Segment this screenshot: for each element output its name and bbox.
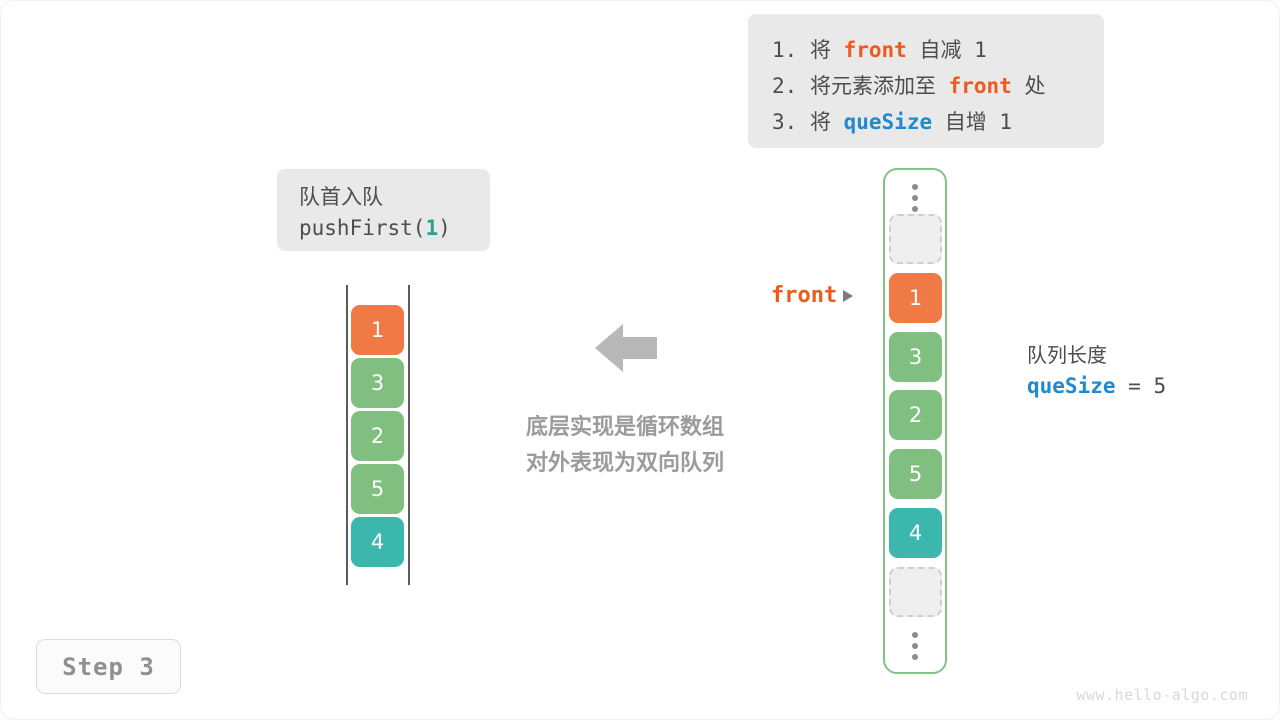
circular-array-top-ellipsis-icon bbox=[912, 184, 918, 212]
quesize-equals: = bbox=[1116, 374, 1154, 398]
deque-cell-3: 5 bbox=[351, 464, 404, 514]
circular-cell-0 bbox=[889, 214, 942, 264]
step-item-2-pre: 将元素添加至 bbox=[810, 74, 949, 98]
operation-call-arg: 1 bbox=[425, 216, 438, 240]
step-item-1: 1. 将 front 自减 1 bbox=[772, 32, 1080, 68]
front-pointer-arrow-icon bbox=[843, 290, 853, 302]
circular-cell-1: 1 bbox=[889, 273, 942, 323]
circular-cell-3-value: 2 bbox=[909, 403, 922, 427]
diagram-canvas: 1. 将 front 自减 1 2. 将元素添加至 front 处 3. 将 q… bbox=[0, 0, 1280, 720]
operation-steps-panel: 1. 将 front 自减 1 2. 将元素添加至 front 处 3. 将 q… bbox=[748, 14, 1104, 148]
center-caption: 底层实现是循环数组 对外表现为双向队列 bbox=[470, 410, 780, 482]
deque-linear-view: 1 3 2 5 4 bbox=[340, 280, 416, 590]
circular-cell-4: 5 bbox=[889, 449, 942, 499]
circular-array-bottom-ellipsis-icon bbox=[912, 632, 918, 660]
step-item-3-index: 3. bbox=[772, 110, 797, 134]
step-item-3-pre: 将 bbox=[810, 110, 844, 134]
step-item-2-post: 处 bbox=[1012, 74, 1046, 98]
deque-cell-1: 3 bbox=[351, 358, 404, 408]
step-item-2: 2. 将元素添加至 front 处 bbox=[772, 68, 1080, 104]
quesize-readout: 队列长度 queSize = 5 bbox=[1027, 340, 1257, 402]
step-item-1-pre: 将 bbox=[810, 38, 844, 62]
deque-cell-2-value: 2 bbox=[371, 424, 384, 448]
deque-cell-0-value: 1 bbox=[371, 318, 384, 342]
center-caption-line-2: 对外表现为双向队列 bbox=[470, 446, 780, 482]
circular-cell-6 bbox=[889, 567, 942, 617]
deque-cell-0: 1 bbox=[351, 305, 404, 355]
step-item-1-index: 1. bbox=[772, 38, 797, 62]
operation-label-panel: 队首入队 pushFirst(1) bbox=[277, 169, 490, 251]
circular-cell-2: 3 bbox=[889, 332, 942, 382]
deque-cell-4: 4 bbox=[351, 517, 404, 567]
operation-title: 队首入队 bbox=[299, 182, 468, 212]
step-badge: Step 3 bbox=[36, 639, 181, 694]
step-badge-label: Step 3 bbox=[62, 653, 155, 681]
circular-cell-4-value: 5 bbox=[909, 462, 922, 486]
transform-arrow-icon bbox=[595, 322, 657, 374]
quesize-var-name: queSize bbox=[1027, 374, 1116, 398]
center-caption-line-1: 底层实现是循环数组 bbox=[470, 410, 780, 446]
circular-cell-5: 4 bbox=[889, 508, 942, 558]
operation-call-suffix: ) bbox=[438, 216, 451, 240]
circular-cell-3: 2 bbox=[889, 390, 942, 440]
operation-call: pushFirst(1) bbox=[299, 212, 468, 244]
circular-cell-2-value: 3 bbox=[909, 345, 922, 369]
circular-cell-1-value: 1 bbox=[909, 286, 922, 310]
step-item-1-code: front bbox=[844, 38, 907, 62]
step-item-2-index: 2. bbox=[772, 74, 797, 98]
step-item-1-post: 自减 1 bbox=[907, 38, 987, 62]
quesize-value: 5 bbox=[1153, 374, 1166, 398]
deque-cell-1-value: 3 bbox=[371, 371, 384, 395]
step-item-3: 3. 将 queSize 自增 1 bbox=[772, 104, 1080, 140]
front-pointer: front bbox=[771, 283, 853, 308]
operation-call-prefix: pushFirst( bbox=[299, 216, 425, 240]
deque-cell-3-value: 5 bbox=[371, 477, 384, 501]
deque-cell-4-value: 4 bbox=[371, 530, 384, 554]
circular-array-view: 1 3 2 5 4 bbox=[883, 168, 947, 674]
front-pointer-label: front bbox=[771, 283, 837, 308]
quesize-title: 队列长度 bbox=[1027, 340, 1257, 370]
deque-rail-right bbox=[408, 285, 410, 585]
step-item-3-post: 自增 1 bbox=[932, 110, 1012, 134]
deque-rail-left bbox=[346, 285, 348, 585]
step-item-3-code: queSize bbox=[844, 110, 933, 134]
deque-cell-2: 2 bbox=[351, 411, 404, 461]
step-item-2-code: front bbox=[949, 74, 1012, 98]
watermark: www.hello-algo.com bbox=[1076, 686, 1248, 704]
quesize-expression: queSize = 5 bbox=[1027, 370, 1257, 402]
circular-cell-5-value: 4 bbox=[909, 521, 922, 545]
